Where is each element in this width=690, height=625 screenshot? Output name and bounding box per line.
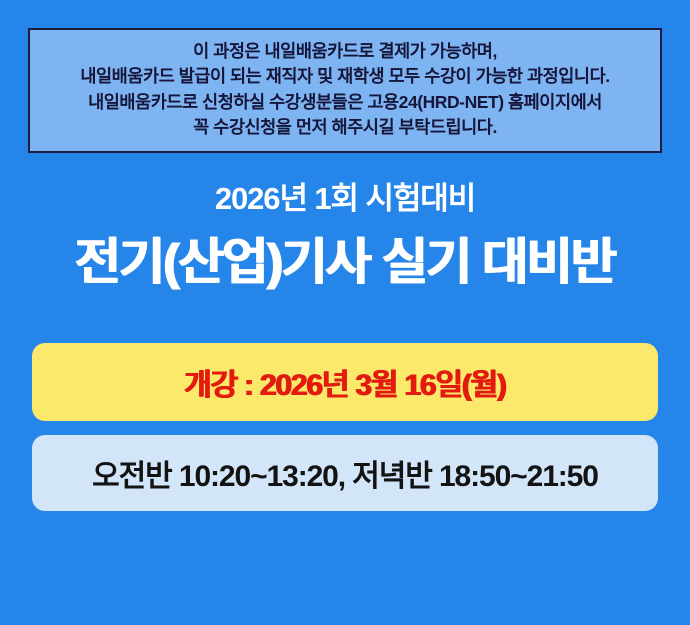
notice-line-3: 내일배움카드로 신청하실 수강생분들은 고용24(HRD-NET) 홈페이지에서 (36, 90, 654, 116)
eligibility-notice-box: 이 과정은 내일배움카드로 결제가 가능하며, 내일배움카드 발급이 되는 재직… (28, 28, 662, 153)
class-schedule-text: 오전반 10:20~13:20, 저녁반 18:50~21:50 (92, 451, 598, 495)
start-date-box: 개강 : 2026년 3월 16일(월) (32, 343, 658, 421)
notice-line-1: 이 과정은 내일배움카드로 결제가 가능하며, (36, 39, 654, 65)
notice-line-2: 내일배움카드 발급이 되는 재직자 및 재학생 모두 수강이 가능한 과정입니다… (36, 64, 654, 90)
class-schedule-box: 오전반 10:20~13:20, 저녁반 18:50~21:50 (32, 435, 658, 511)
exam-round-subtitle: 2026년 1회 시험대비 (0, 180, 690, 218)
course-title-headline: 전기(산업)기사 실기 대비반 (0, 228, 690, 296)
notice-line-4: 꼭 수강신청을 먼저 해주시길 부탁드립니다. (36, 115, 654, 141)
footer-blank-area (0, 511, 690, 625)
course-promo-banner: 이 과정은 내일배움카드로 결제가 가능하며, 내일배움카드 발급이 되는 재직… (0, 0, 690, 625)
start-date-text: 개강 : 2026년 3월 16일(월) (184, 360, 506, 404)
